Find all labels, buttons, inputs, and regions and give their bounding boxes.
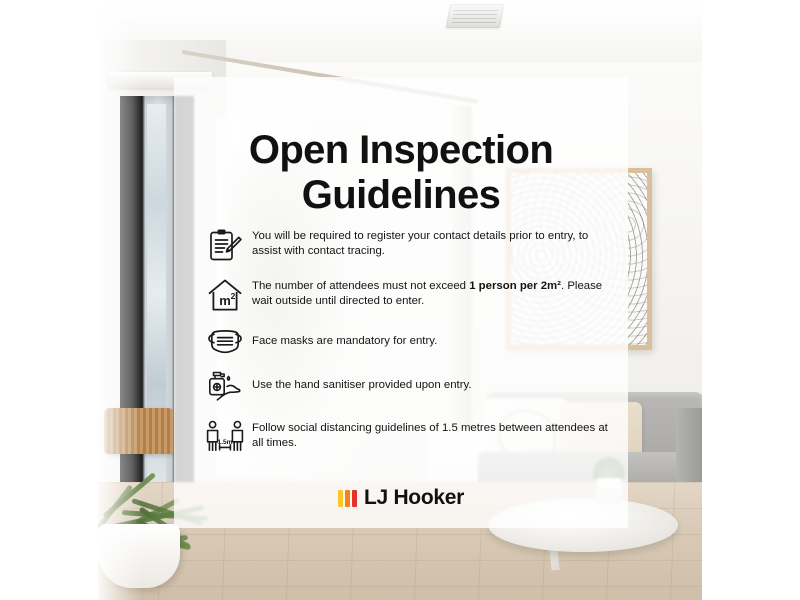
house-square-metre-icon: m 2 xyxy=(198,277,252,312)
guideline-text: Face masks are mandatory for entry. xyxy=(252,325,608,349)
photo-edge-fade-top xyxy=(98,0,702,30)
svg-text:2: 2 xyxy=(231,291,236,301)
page-title: Open Inspection Guidelines xyxy=(174,128,628,218)
logo-bars-icon xyxy=(338,490,357,507)
guideline-text: Follow social distancing guidelines of 1… xyxy=(252,419,608,452)
photo-edge-fade-left xyxy=(98,0,142,600)
guideline-row: You will be required to register your co… xyxy=(198,227,608,264)
social-distancing-icon: 1.5m xyxy=(198,419,252,454)
guideline-text: You will be required to register your co… xyxy=(252,227,608,260)
guideline-text: Use the hand sanitiser provided upon ent… xyxy=(252,369,608,393)
logo-bar-red xyxy=(352,490,357,507)
logo-bar-orange xyxy=(345,490,350,507)
guideline-emphasis: 1 person per 2m² xyxy=(469,280,561,292)
clipboard-pencil-icon xyxy=(198,227,252,264)
logo-bar-yellow xyxy=(338,490,343,507)
logo-wordmark: LJ Hooker xyxy=(364,486,464,510)
guideline-text: The number of attendees must not exceed … xyxy=(252,277,608,310)
guidelines-card: Open Inspection Guidelines You will be r… xyxy=(174,77,628,528)
svg-text:m: m xyxy=(219,293,231,308)
guideline-row: Face masks are mandatory for entry. xyxy=(198,325,608,356)
guideline-row: m 2 The number of attendees must not exc… xyxy=(198,277,608,312)
svg-text:1.5m: 1.5m xyxy=(217,439,232,446)
face-mask-icon xyxy=(198,325,252,356)
guidelines-list: You will be required to register your co… xyxy=(198,227,608,467)
guideline-row: Use the hand sanitiser provided upon ent… xyxy=(198,369,608,406)
lj-hooker-logo: LJ Hooker xyxy=(174,486,628,510)
hand-sanitiser-icon xyxy=(198,369,252,406)
guideline-row: 1.5m Follow social distancing guidelines… xyxy=(198,419,608,454)
poster-canvas: Open Inspection Guidelines You will be r… xyxy=(0,0,800,600)
